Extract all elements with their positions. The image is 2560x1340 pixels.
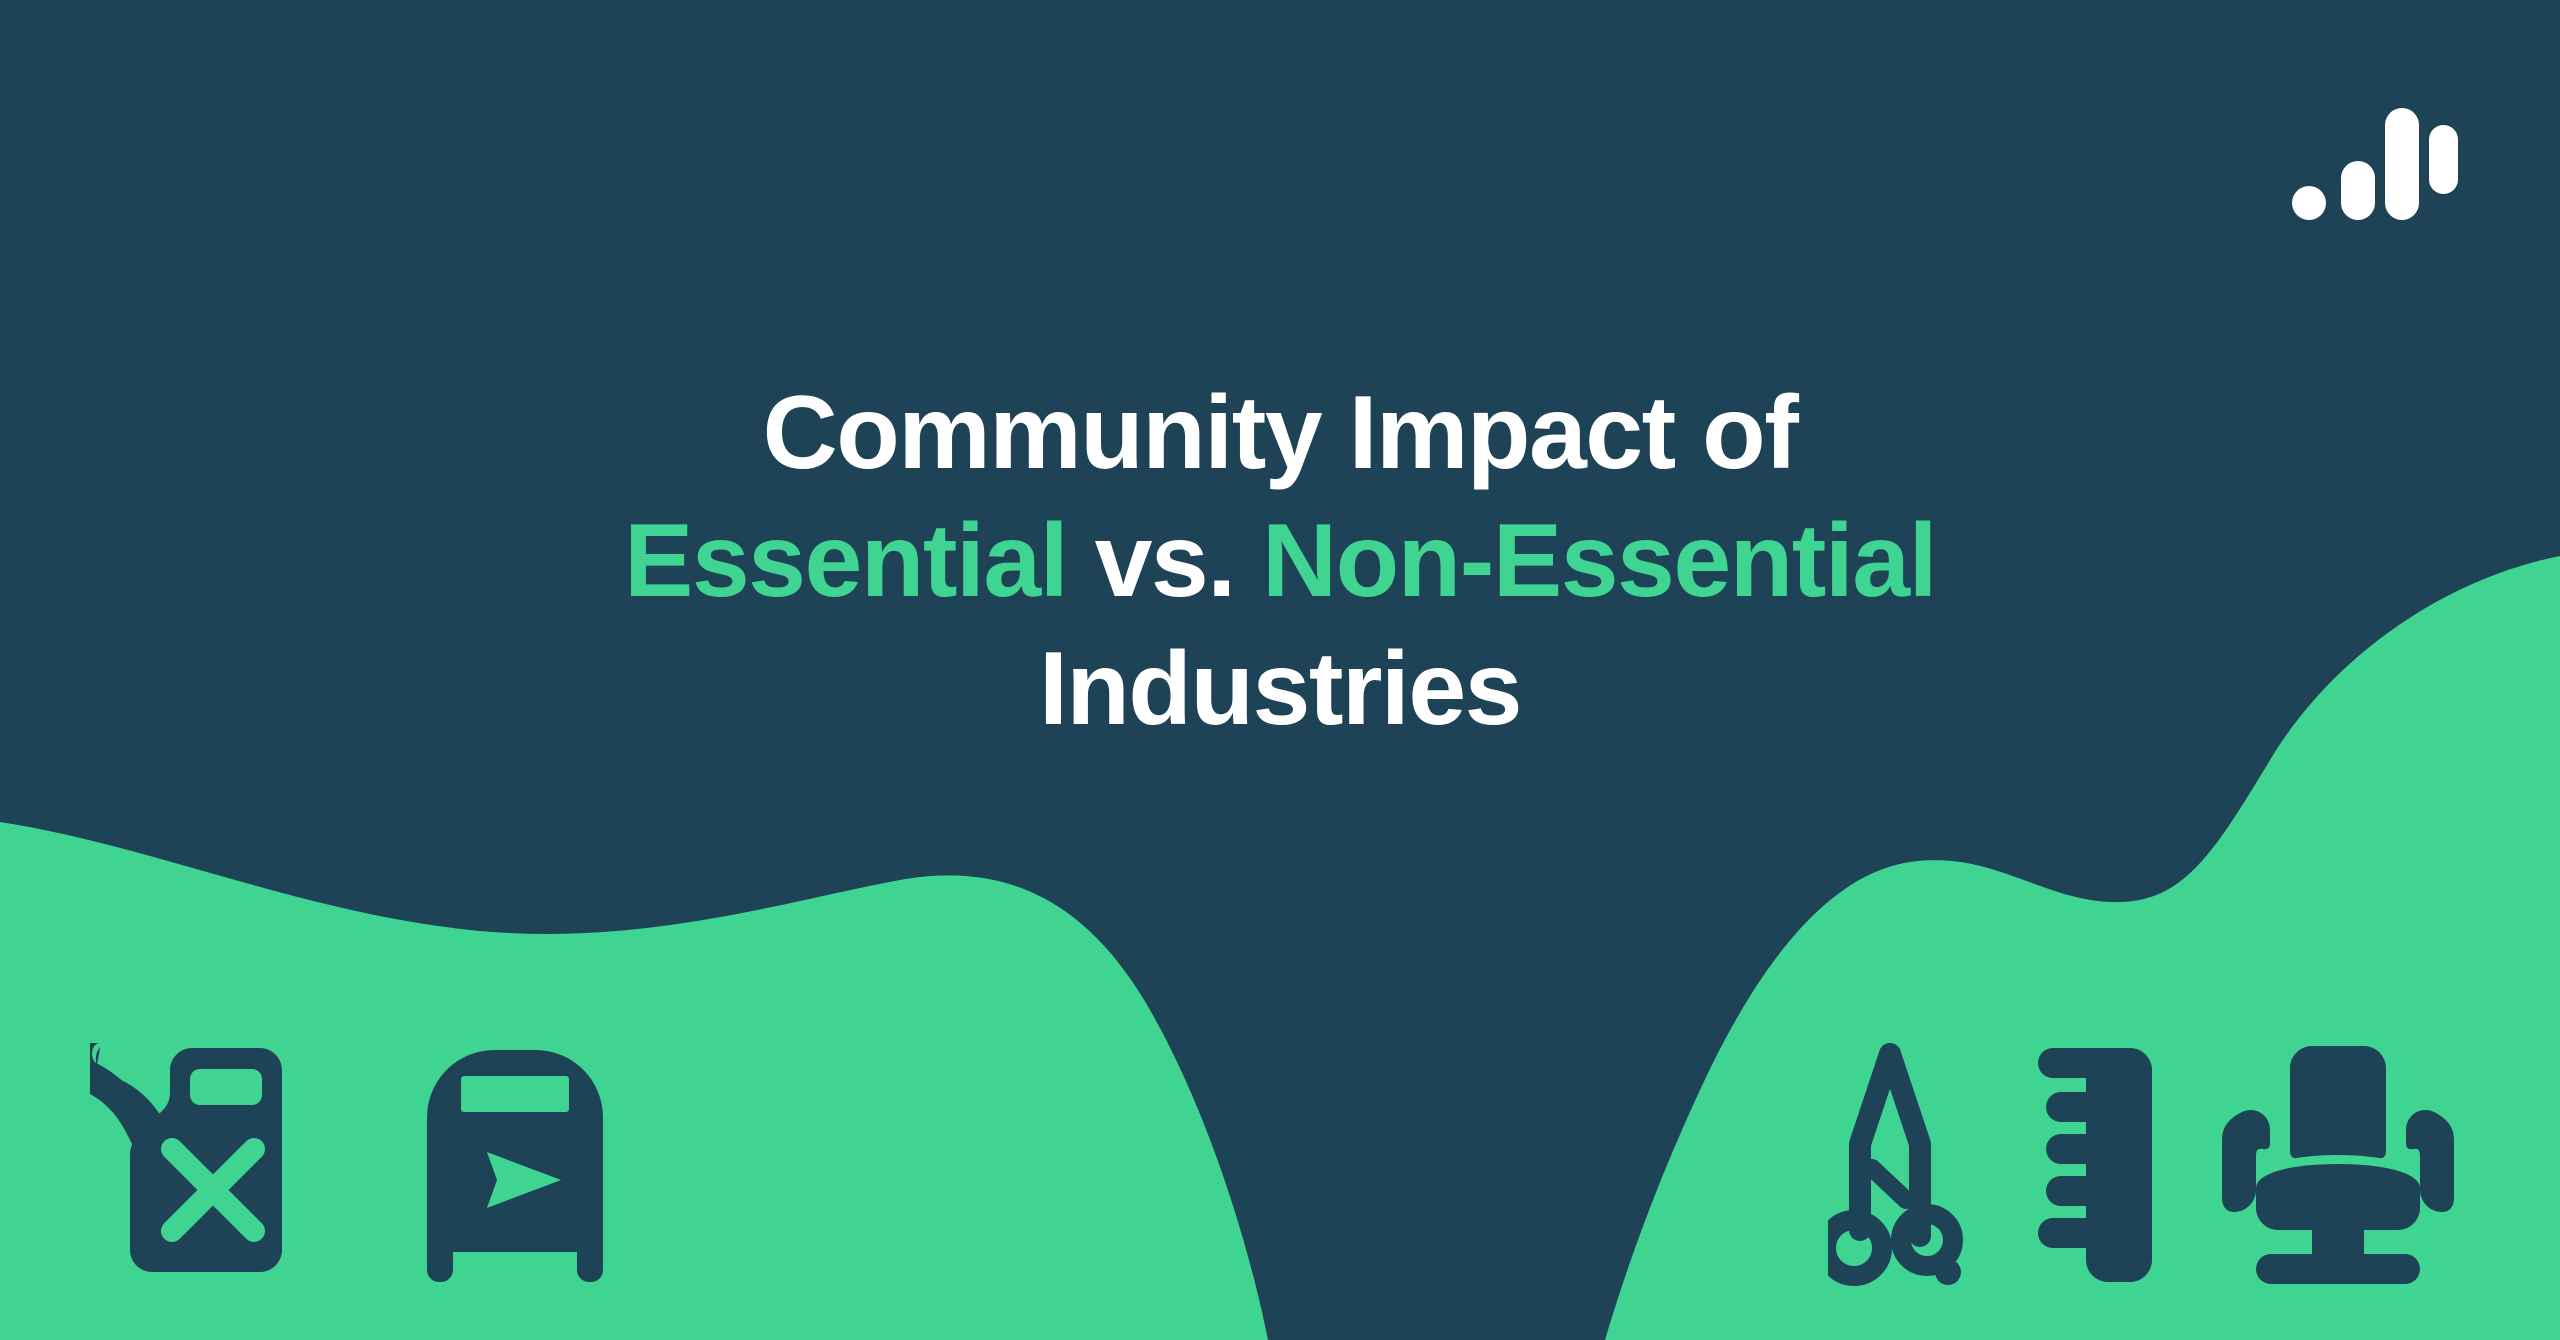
scissors-handle-tail	[1935, 1259, 1961, 1285]
chair-base	[2256, 1254, 2420, 1284]
icon-group-left	[90, 1035, 615, 1290]
scissors-handle-left	[1828, 1220, 1882, 1276]
logo-bar-medium	[2429, 125, 2458, 194]
comb-tooth-1	[2046, 1092, 2108, 1122]
mailbox-slot	[461, 1076, 569, 1112]
comb-icon	[2034, 1040, 2154, 1290]
bar-chart-logo	[2292, 108, 2458, 220]
scissors-icon	[1828, 1040, 1976, 1290]
mailbox-leg-left	[427, 1240, 453, 1282]
jerrycan-no-fuel-icon	[90, 1035, 305, 1290]
barber-chair-icon	[2212, 1040, 2464, 1290]
comb-tooth-top	[2038, 1048, 2118, 1078]
logo-bar-tall	[2385, 108, 2419, 220]
scissors-pivot	[1872, 1168, 1906, 1200]
comb-tooth-3	[2046, 1176, 2108, 1206]
chair-backrest	[2290, 1046, 2386, 1158]
comb-tooth-2	[2046, 1134, 2108, 1164]
logo-dot	[2292, 186, 2326, 220]
logo-bar-short	[2341, 161, 2375, 220]
slide-canvas: Community Impact of Essential vs. Non-Es…	[0, 0, 2560, 1340]
icon-group-right	[1828, 1040, 2464, 1290]
chair-seat	[2256, 1164, 2420, 1230]
comb-tooth-bottom	[2038, 1218, 2118, 1248]
scissors-blade-left	[1860, 1054, 1890, 1230]
jerrycan-cap	[190, 1069, 262, 1105]
mailbox-lower	[427, 1226, 603, 1252]
mailbox-leg-right	[577, 1240, 603, 1282]
mailbox-icon	[415, 1040, 615, 1290]
